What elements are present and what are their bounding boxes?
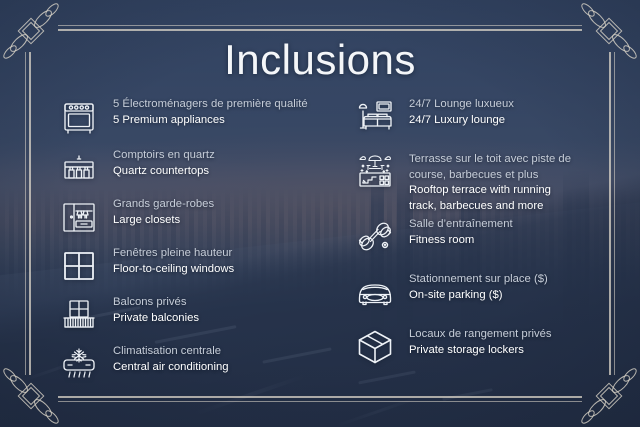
list-item-labels: Locaux de rangement privés Private stora… bbox=[409, 326, 552, 358]
label-fr: Climatisation centrale bbox=[113, 344, 229, 360]
air-conditioner-icon bbox=[58, 343, 100, 385]
stove-oven-icon bbox=[58, 96, 100, 138]
list-item: Salle d’entraînement Fitness room bbox=[354, 216, 596, 260]
list-item: Fenêtres pleine hauteur Floor-to-ceiling… bbox=[58, 245, 330, 285]
lounge-sofa-icon bbox=[354, 96, 396, 138]
list-item: Stationnement sur place ($) On-site park… bbox=[354, 271, 596, 315]
label-fr: Comptoirs en quartz bbox=[113, 148, 215, 164]
list-item: Climatisation centrale Central air condi… bbox=[58, 343, 330, 383]
label-en: On-site parking ($) bbox=[409, 288, 548, 304]
right-column: 24/7 Lounge luxueux 24/7 Luxury lounge bbox=[348, 96, 596, 381]
list-item-labels: Grands garde-robes Large closets bbox=[113, 196, 214, 228]
list-item: Balcons privés Private balconies bbox=[58, 294, 330, 334]
list-item: 5 Électroménagers de première qualité 5 … bbox=[58, 96, 330, 136]
label-en: Quartz countertops bbox=[113, 164, 215, 180]
list-item: Comptoirs en quartz Quartz countertops bbox=[58, 147, 330, 187]
list-item-labels: 24/7 Lounge luxueux 24/7 Luxury lounge bbox=[409, 96, 514, 128]
list-item-labels: Stationnement sur place ($) On-site park… bbox=[409, 271, 548, 303]
label-fr: 24/7 Lounge luxueux bbox=[409, 97, 514, 113]
label-fr: 5 Électroménagers de première qualité bbox=[113, 97, 308, 113]
label-fr: Grands garde-robes bbox=[113, 197, 214, 213]
dumbbell-fitness-icon bbox=[354, 216, 396, 258]
label-fr: Salle d’entraînement bbox=[409, 217, 513, 233]
list-item-labels: Comptoirs en quartz Quartz countertops bbox=[113, 147, 215, 179]
list-item: Grands garde-robes Large closets bbox=[58, 196, 330, 236]
label-en: Rooftop terrace with running track, barb… bbox=[409, 183, 571, 214]
list-item-labels: Terrasse sur le toit avec piste de cours… bbox=[409, 151, 571, 214]
wardrobe-closet-icon bbox=[58, 196, 100, 238]
page-title: Inclusions bbox=[0, 36, 640, 84]
inclusions-poster: Inclusions 5 Électroménagers de premi bbox=[0, 0, 640, 427]
rooftop-terrace-icon bbox=[354, 151, 396, 193]
left-column: 5 Électroménagers de première qualité 5 … bbox=[58, 96, 330, 381]
list-item: 24/7 Lounge luxueux 24/7 Luxury lounge bbox=[354, 96, 596, 140]
quartz-countertop-icon bbox=[58, 147, 100, 189]
window-icon bbox=[58, 245, 100, 287]
label-en: Floor-to-ceiling windows bbox=[113, 262, 234, 278]
inclusions-columns: 5 Électroménagers de première qualité 5 … bbox=[58, 96, 596, 381]
list-item-labels: Climatisation centrale Central air condi… bbox=[113, 343, 229, 375]
list-item-labels: Balcons privés Private balconies bbox=[113, 294, 199, 326]
label-en: Fitness room bbox=[409, 233, 513, 249]
list-item-labels: 5 Électroménagers de première qualité 5 … bbox=[113, 96, 308, 128]
list-item-labels: Fenêtres pleine hauteur Floor-to-ceiling… bbox=[113, 245, 234, 277]
balcony-icon bbox=[58, 294, 100, 336]
label-fr: Locaux de rangement privés bbox=[409, 327, 552, 343]
label-fr: Terrasse sur le toit avec piste de cours… bbox=[409, 152, 571, 183]
storage-box-icon bbox=[354, 326, 396, 368]
label-en: Private balconies bbox=[113, 311, 199, 327]
label-fr: Balcons privés bbox=[113, 295, 199, 311]
label-en: Private storage lockers bbox=[409, 343, 552, 359]
list-item: Terrasse sur le toit avec piste de cours… bbox=[354, 151, 596, 205]
label-en: 5 Premium appliances bbox=[113, 113, 308, 129]
list-item: Locaux de rangement privés Private stora… bbox=[354, 326, 596, 370]
label-en: 24/7 Luxury lounge bbox=[409, 113, 514, 129]
car-parking-icon bbox=[354, 271, 396, 313]
list-item-labels: Salle d’entraînement Fitness room bbox=[409, 216, 513, 248]
label-fr: Fenêtres pleine hauteur bbox=[113, 246, 234, 262]
label-en: Large closets bbox=[113, 213, 214, 229]
label-en: Central air conditioning bbox=[113, 360, 229, 376]
label-fr: Stationnement sur place ($) bbox=[409, 272, 548, 288]
